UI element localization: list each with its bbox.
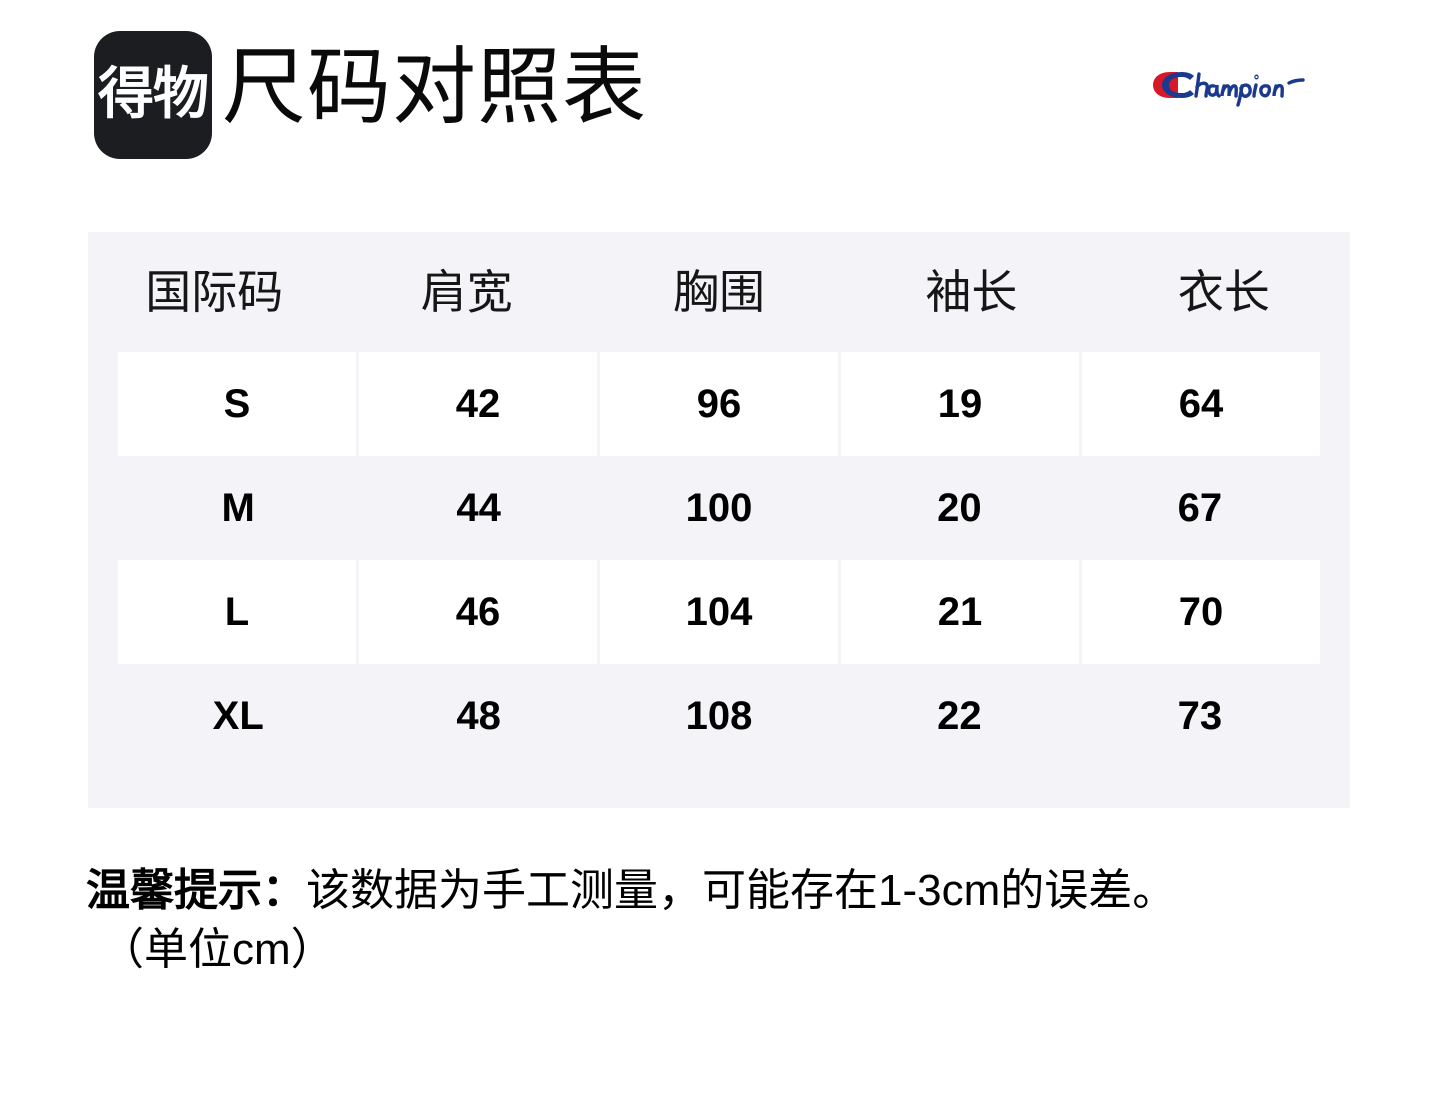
cell-shoulder: 44	[358, 456, 598, 560]
cell-shoulder: 46	[356, 560, 597, 664]
dewu-app-logo: 得物	[94, 31, 212, 159]
cell-chest: 100	[599, 456, 839, 560]
cell-size: XL	[118, 664, 358, 768]
cell-sleeve: 22	[839, 664, 1079, 768]
dewu-logo-text: 得物	[98, 67, 208, 123]
disclaimer-label: 温馨提示：	[86, 866, 306, 915]
cell-sleeve: 19	[838, 352, 1079, 456]
table-row: S 42 96 19 64	[118, 352, 1320, 456]
cell-length: 64	[1079, 352, 1320, 456]
cell-size: M	[118, 456, 358, 560]
column-header-length: 衣长	[1098, 269, 1350, 315]
cell-length: 73	[1080, 664, 1320, 768]
disclaimer-body: 该数据为手工测量，可能存在1-3cm的误差。	[306, 866, 1176, 915]
size-chart-table: 国际码 肩宽 胸围 袖长 衣长 S 42 96 19 64 M 44 100 2…	[88, 232, 1350, 808]
column-header-shoulder: 肩宽	[340, 269, 592, 315]
table-row: L 46 104 21 70	[118, 560, 1320, 664]
table-row: M 44 100 20 67	[118, 456, 1320, 560]
cell-shoulder: 42	[356, 352, 597, 456]
cell-length: 67	[1080, 456, 1320, 560]
cell-sleeve: 20	[839, 456, 1079, 560]
table-body: S 42 96 19 64 M 44 100 20 67 L 46 104 21…	[88, 352, 1350, 768]
cell-shoulder: 48	[358, 664, 598, 768]
column-header-size: 国际码	[88, 269, 340, 315]
table-header-row: 国际码 肩宽 胸围 袖长 衣长	[88, 232, 1350, 352]
cell-size: L	[118, 560, 356, 664]
table-row: XL 48 108 22 73	[118, 664, 1320, 768]
cell-sleeve: 21	[838, 560, 1079, 664]
column-header-chest: 胸围	[593, 269, 845, 315]
cell-chest: 108	[599, 664, 839, 768]
page-title: 尺码对照表	[222, 42, 647, 133]
measurement-disclaimer: 温馨提示：该数据为手工测量，可能存在1-3cm的误差。 （单位cm）	[86, 862, 1366, 979]
cell-size: S	[118, 352, 356, 456]
champion-brand-logo	[1152, 62, 1338, 108]
cell-chest: 104	[597, 560, 838, 664]
page-header: 得物 尺码对照表	[0, 0, 1440, 200]
column-header-sleeve: 袖长	[845, 269, 1097, 315]
disclaimer-unit: （单位cm）	[86, 921, 1366, 980]
cell-chest: 96	[597, 352, 838, 456]
cell-length: 70	[1079, 560, 1320, 664]
